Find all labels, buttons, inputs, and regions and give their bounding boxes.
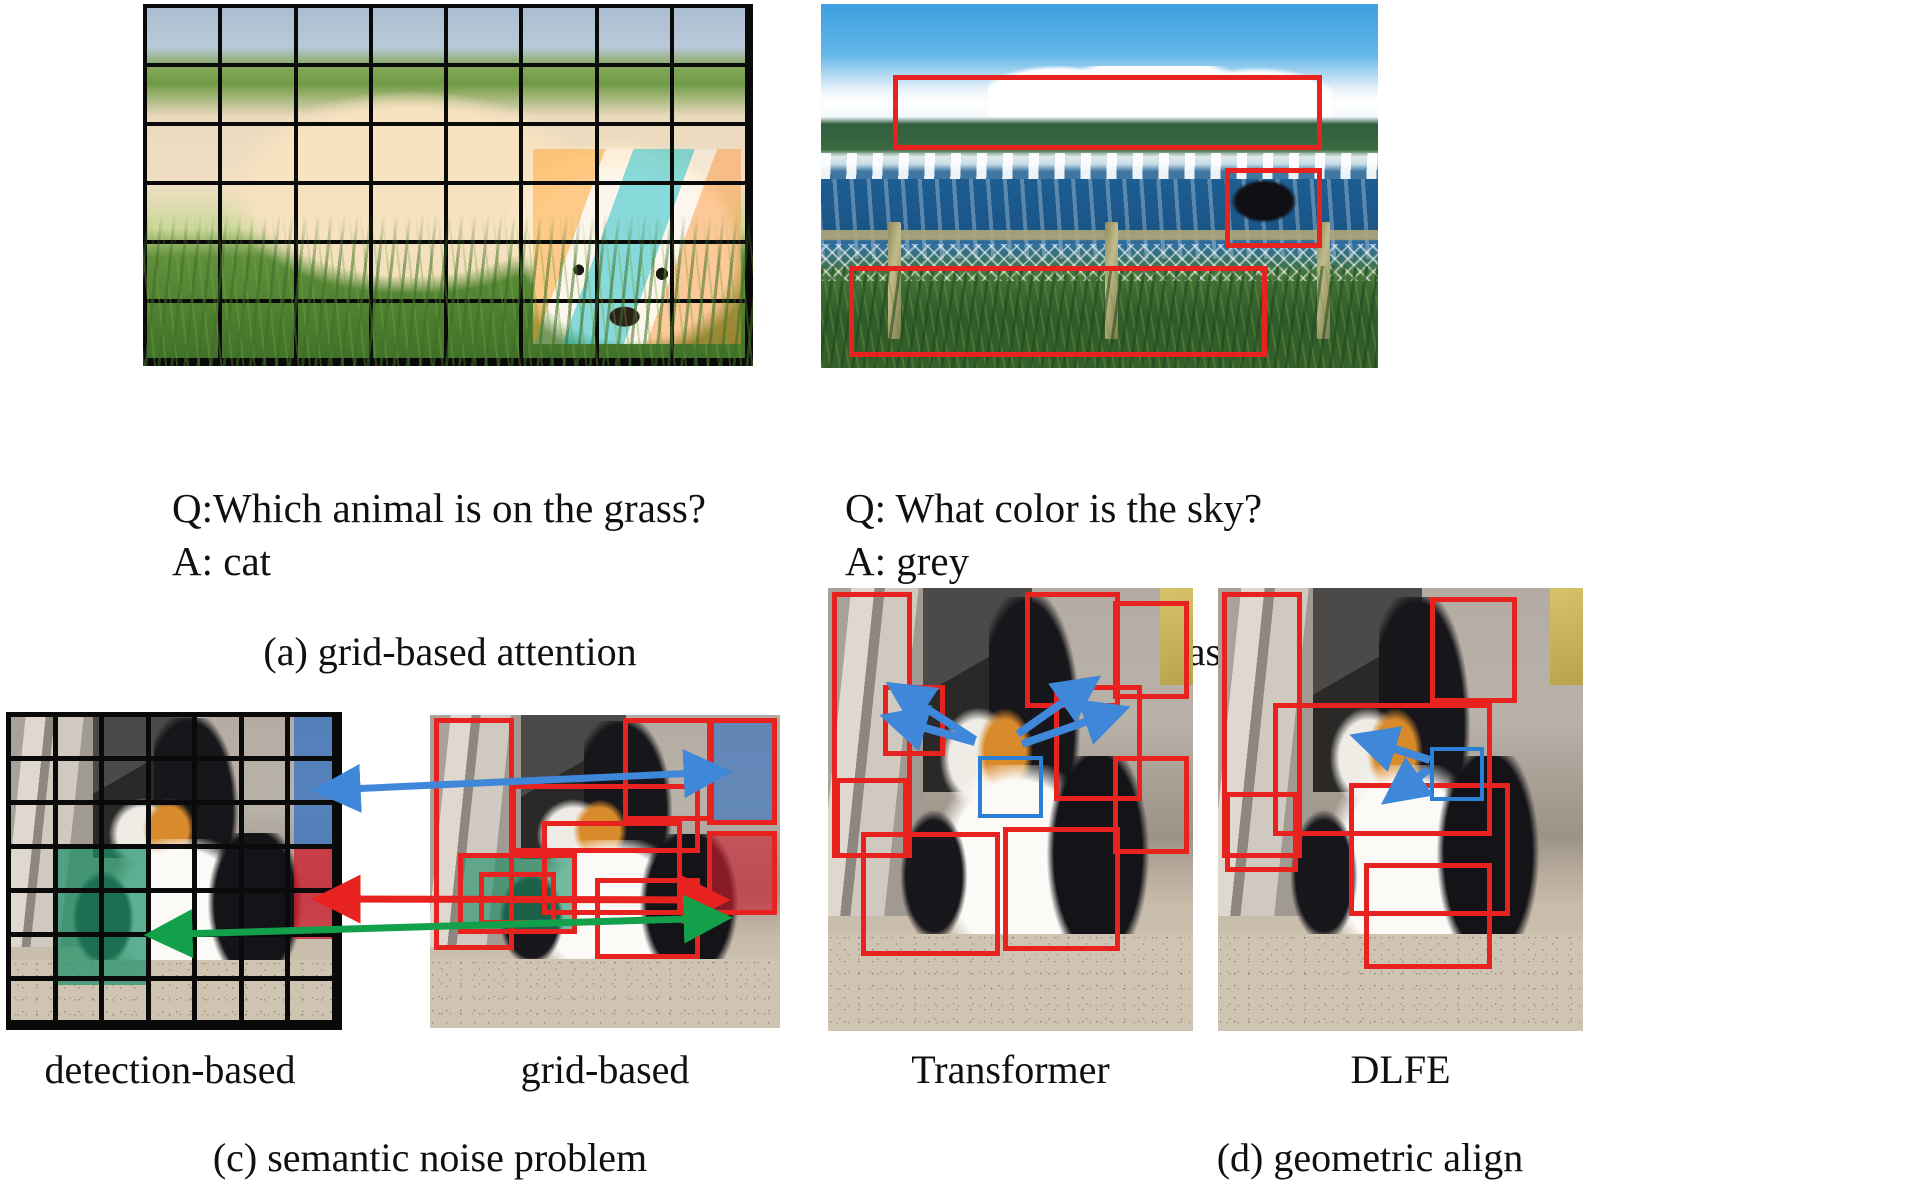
attention-arrow xyxy=(1390,770,1428,798)
attention-arrow xyxy=(1360,738,1430,760)
panel-d-transformer-label: Transformer xyxy=(828,1046,1193,1093)
figure-root: Q:Which animal is on the grass? A: cat (… xyxy=(0,0,1905,1204)
panel-d-caption: (d) geometric align xyxy=(1000,1134,1740,1181)
panel-d-dlfe-label: DLFE xyxy=(1218,1046,1583,1093)
panel-d-dlfe-arrows xyxy=(0,0,1905,1204)
